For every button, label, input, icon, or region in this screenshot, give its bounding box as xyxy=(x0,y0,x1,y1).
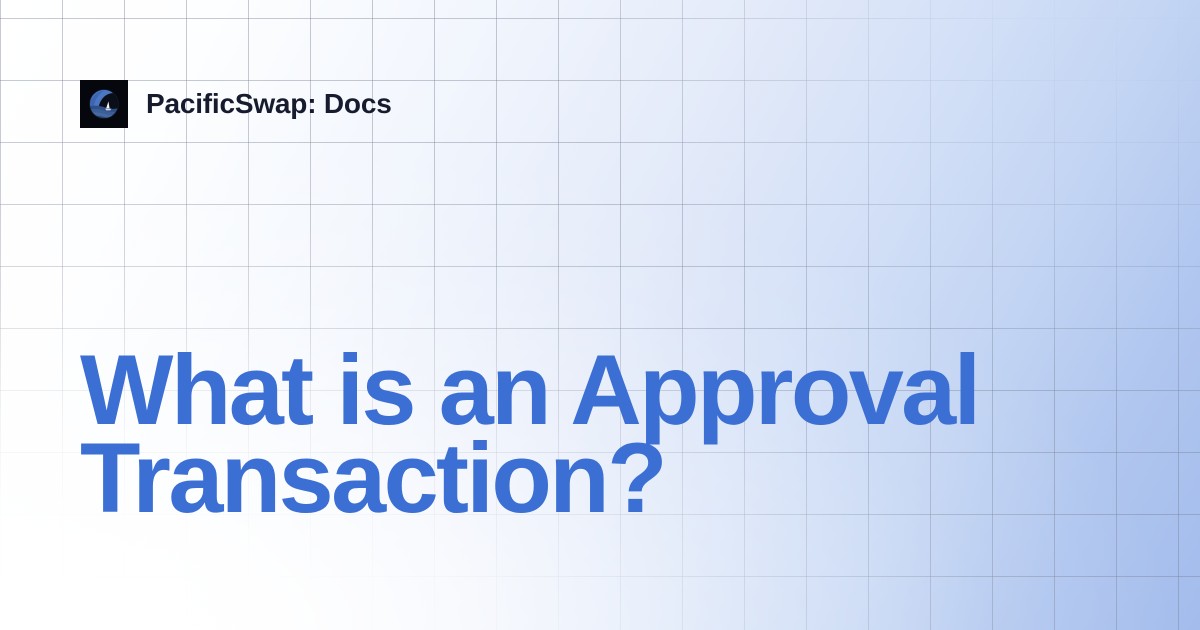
card-content: PacificSwap: Docs What is an Approval Tr… xyxy=(0,0,1200,630)
page-title: What is an Approval Transaction? xyxy=(80,346,1040,522)
brand-row: PacificSwap: Docs xyxy=(80,80,392,128)
brand-name: PacificSwap: Docs xyxy=(146,87,392,121)
og-share-card: PacificSwap: Docs What is an Approval Tr… xyxy=(0,0,1200,630)
pacificswap-wave-logo-icon xyxy=(80,80,128,128)
